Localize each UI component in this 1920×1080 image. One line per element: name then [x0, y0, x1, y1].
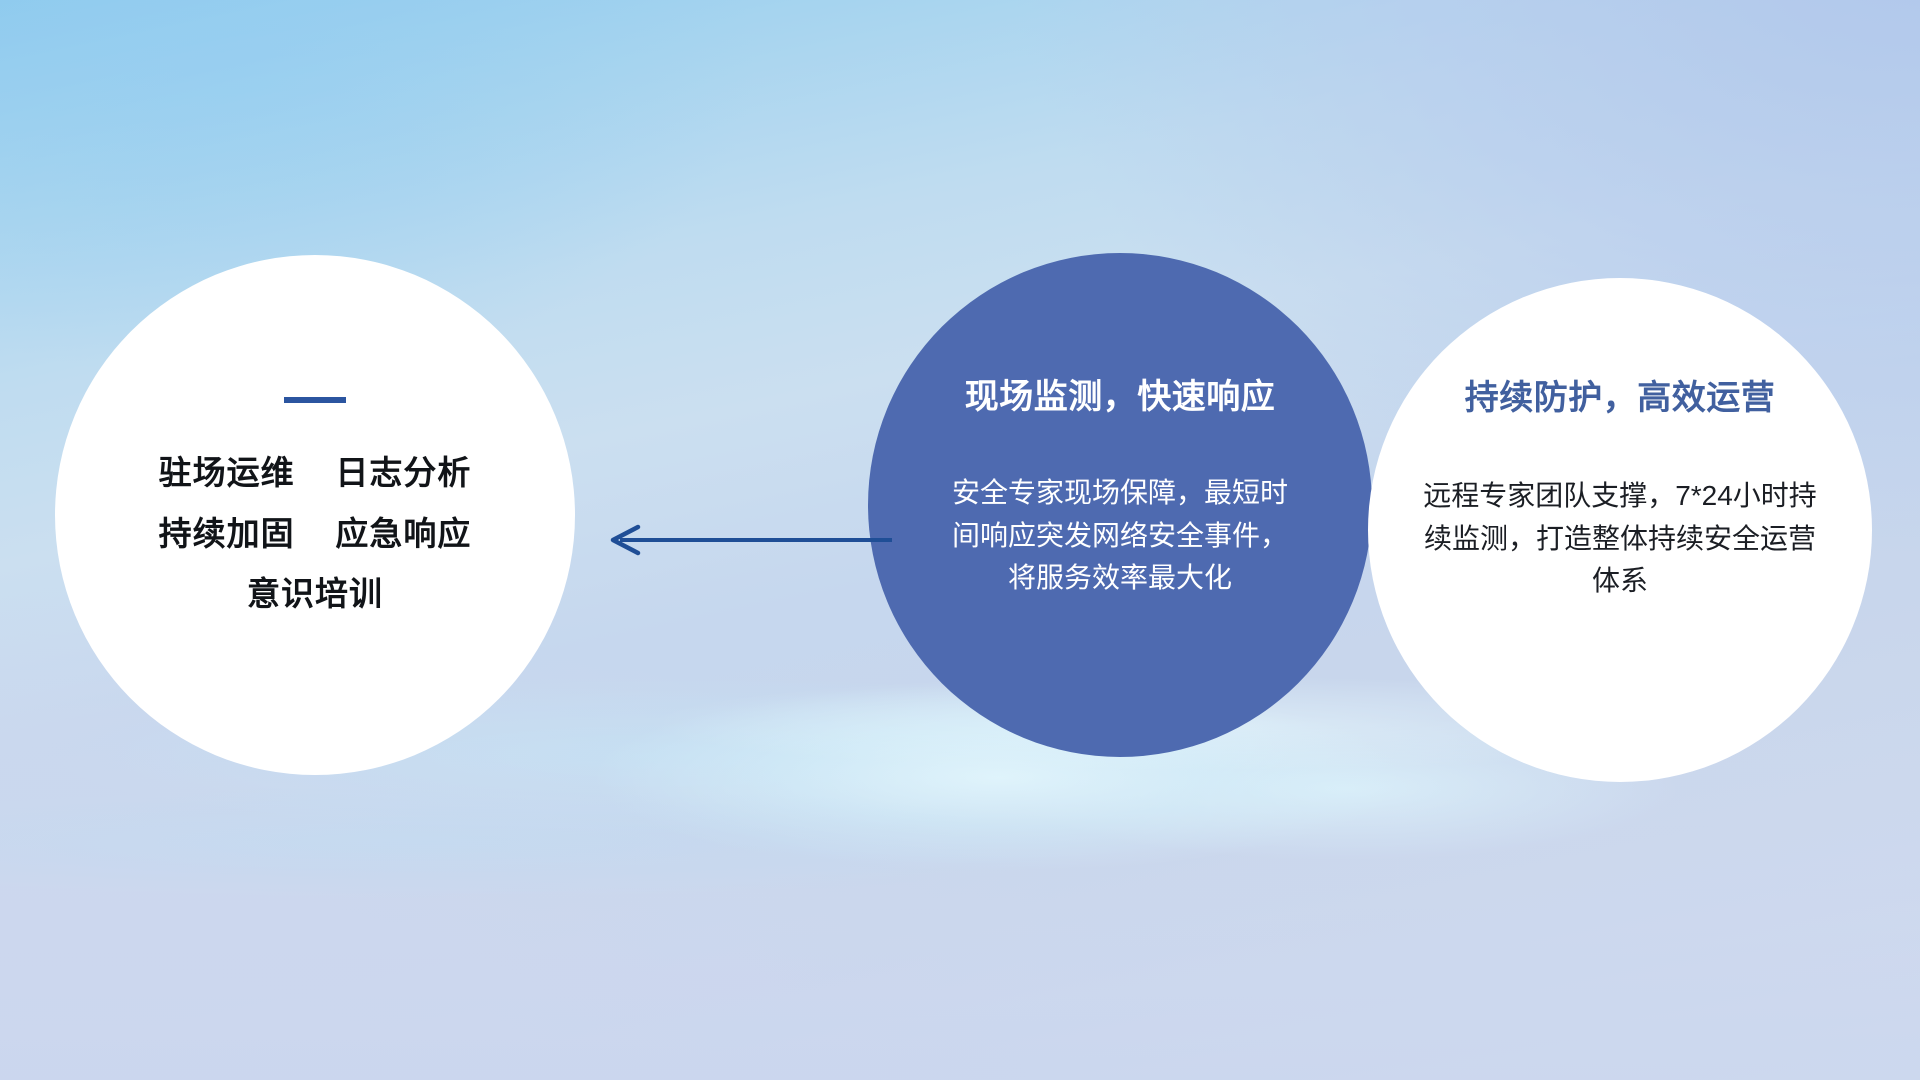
continuous-protection-body: 远程专家团队支撑，7*24小时持续监测，打造整体持续安全运营体系: [1414, 475, 1826, 603]
left-capability-circle[interactable]: 驻场运维 日志分析 持续加固 应急响应 意识培训: [55, 255, 575, 775]
capability-line-1: 驻场运维 日志分析: [55, 456, 575, 491]
continuous-protection-circle[interactable]: 持续防护，高效运营 远程专家团队支撑，7*24小时持续监测，打造整体持续安全运营…: [1368, 278, 1872, 782]
infographic-canvas: 驻场运维 日志分析 持续加固 应急响应 意识培训 现场监测，快速响应 安全专家现…: [0, 0, 1920, 1080]
blue-dash-divider-icon: [284, 397, 346, 403]
onsite-monitoring-body: 安全专家现场保障，最短时间响应突发网络安全事件，将服务效率最大化: [952, 472, 1288, 600]
continuous-protection-title: 持续防护，高效运营: [1465, 370, 1776, 419]
capability-list: 驻场运维 日志分析 持续加固 应急响应 意识培训: [55, 456, 575, 612]
onsite-monitoring-title: 现场监测，快速响应: [965, 369, 1276, 418]
capability-line-3: 意识培训: [55, 577, 575, 612]
capability-line-2: 持续加固 应急响应: [55, 517, 575, 552]
arrow-left-icon: [604, 520, 894, 560]
onsite-monitoring-circle[interactable]: 现场监测，快速响应 安全专家现场保障，最短时间响应突发网络安全事件，将服务效率最…: [868, 253, 1372, 757]
